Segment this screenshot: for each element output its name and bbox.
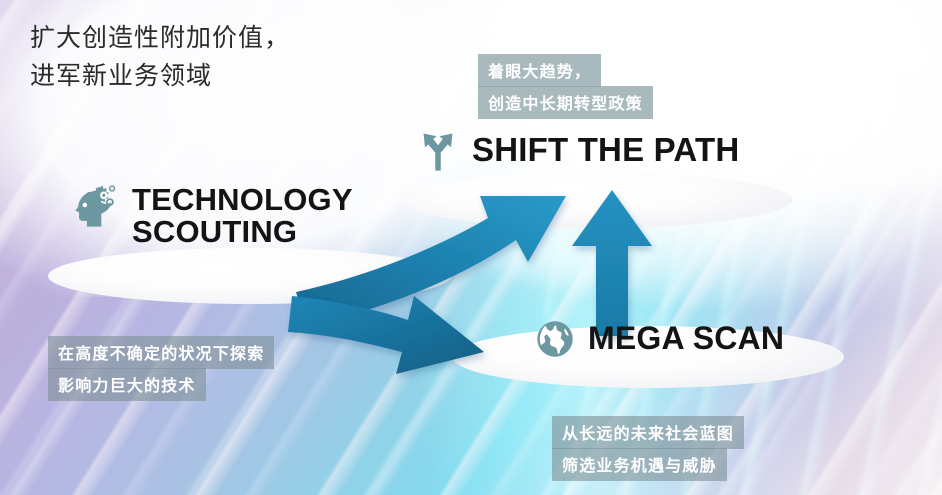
node-technology-scouting-line-2: SCOUTING (132, 214, 297, 249)
callout-shift-1: 着眼大趋势， (478, 54, 601, 87)
node-mega-scan-label: MEGA SCAN (588, 322, 784, 355)
node-shift-the-path-label: SHIFT THE PATH (472, 133, 739, 167)
page-title-line-2: 进军新业务领域 (30, 58, 290, 96)
node-technology-scouting[interactable]: TECHNOLOGY SCOUTING (74, 182, 353, 248)
globe-icon (534, 318, 576, 360)
node-shift-the-path[interactable]: SHIFT THE PATH (416, 128, 739, 172)
node-technology-scouting-label: TECHNOLOGY SCOUTING (132, 182, 353, 248)
branching-path-icon (416, 128, 460, 172)
callout-mega-2: 筛选业务机遇与威胁 (552, 448, 727, 481)
page-title-line-1: 扩大创造性附加价值， (30, 20, 290, 58)
page-title: 扩大创造性附加价值， 进军新业务领域 (30, 20, 290, 95)
callout-shift-2: 创造中长期转型政策 (478, 86, 653, 119)
node-mega-scan[interactable]: MEGA SCAN (534, 318, 784, 360)
head-with-gears-icon (74, 182, 120, 228)
node-technology-scouting-line-1: TECHNOLOGY (132, 182, 353, 217)
technology-to-mega-arrow (288, 296, 484, 374)
callout-technology-1: 在高度不确定的状况下探索 (48, 336, 274, 369)
mega-to-shift-arrow (572, 190, 652, 336)
callout-mega-1: 从长远的未来社会蓝图 (552, 416, 744, 449)
callout-technology-2: 影响力巨大的技术 (48, 368, 206, 401)
infographic-canvas: 扩大创造性附加价值， 进军新业务领域 SHIFT THE PATH (0, 0, 942, 495)
